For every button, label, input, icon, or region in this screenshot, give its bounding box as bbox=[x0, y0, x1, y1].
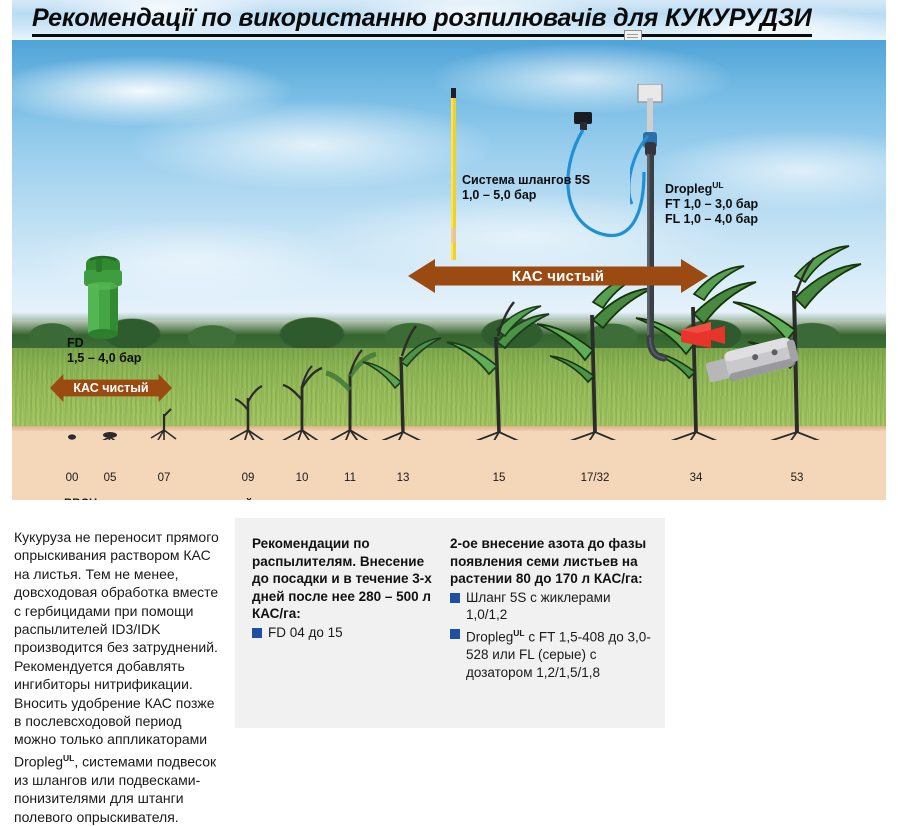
label-hose-system-line2: 1,0 – 5,0 бар bbox=[462, 188, 590, 203]
bbch-stage-1: 05 bbox=[104, 472, 117, 484]
dropleg-superscript: UL bbox=[513, 628, 524, 638]
label-dropleg: DroplegUL FT 1,0 – 3,0 бар FL 1,0 – 4,0 … bbox=[665, 178, 758, 227]
label-dropleg-name: DroplegUL bbox=[665, 178, 758, 197]
list-item: Шланг 5S с жиклерами 1,0/1,2 bbox=[450, 589, 655, 624]
bbch-stage-10: 53 bbox=[791, 472, 804, 484]
dropleg-name: Dropleg bbox=[466, 629, 513, 644]
hose-system-pole-icon bbox=[449, 88, 457, 260]
list-item: DroplegUL с FT 1,5-408 до 3,0-528 или FL… bbox=[450, 625, 655, 681]
presowing-item-label: FD 04 до 15 bbox=[268, 624, 432, 642]
bbch-stage-9: 34 bbox=[690, 472, 703, 484]
cloud bbox=[132, 100, 492, 190]
left-paragraph-superscript: UL bbox=[63, 753, 74, 763]
label-dropleg-superscript: UL bbox=[712, 180, 723, 190]
bbch-stage-8: 17/32 bbox=[581, 472, 610, 484]
bbch-stage-0: 00 bbox=[66, 472, 79, 484]
dropleg-applicator-icon bbox=[630, 84, 670, 362]
left-description-paragraph: Кукуруза не переносит прямого опрыскиван… bbox=[14, 528, 219, 826]
bbch-stage-6: 13 bbox=[397, 472, 410, 484]
bbch-stage-3: 09 bbox=[242, 472, 255, 484]
label-dropleg-ft: FT 1,0 – 3,0 бар bbox=[665, 197, 758, 212]
cloud bbox=[432, 44, 732, 114]
grey-nozzle-icon bbox=[700, 336, 804, 386]
arrow-kas-pure-wide-label: КАС чистый bbox=[512, 268, 604, 285]
second-nitrogen-item-hose: Шланг 5S с жиклерами 1,0/1,2 bbox=[466, 589, 655, 624]
label-fd-pressure: 1,5 – 4,0 бар bbox=[67, 351, 141, 366]
bullet-square-icon bbox=[450, 629, 460, 639]
header-banner: Рекомендації по використанню розпилювачі… bbox=[12, 0, 886, 40]
list-item: FD 04 до 15 bbox=[252, 624, 432, 642]
illustration-scene: Система шлангов 5S 1,0 – 5,0 бар Dropleg… bbox=[12, 40, 886, 500]
recommendation-column-second-nitrogen: 2-ое внесение азота до фазы появления се… bbox=[450, 535, 655, 681]
bbch-stage-2: 07 bbox=[158, 472, 171, 484]
presowing-heading: Рекомендации по распылителям. Внесение д… bbox=[252, 535, 432, 623]
bbch-stage-4: 10 bbox=[296, 472, 309, 484]
label-fd-name: FD bbox=[67, 336, 141, 351]
bullet-square-icon bbox=[252, 628, 262, 638]
poster-page: Рекомендації по використанню розпилювачі… bbox=[0, 0, 898, 822]
recommendation-column-presowing: Рекомендации по распылителям. Внесение д… bbox=[252, 535, 432, 642]
fd-nozzle-icon bbox=[74, 248, 132, 340]
bbch-caption: BBCH стадии развития растений bbox=[64, 498, 252, 500]
label-hose-system-5s: Система шлангов 5S 1,0 – 5,0 бар bbox=[462, 173, 590, 203]
second-nitrogen-item-dropleg: DroplegUL с FT 1,5-408 до 3,0-528 или FL… bbox=[466, 625, 655, 681]
bbch-stage-7: 15 bbox=[493, 472, 506, 484]
page-title: Рекомендації по використанню розпилювачі… bbox=[32, 4, 812, 37]
label-fd-nozzle: FD 1,5 – 4,0 бар bbox=[67, 336, 141, 366]
second-nitrogen-heading: 2-ое внесение азота до фазы появления се… bbox=[450, 535, 655, 588]
paperclip-icon bbox=[624, 30, 642, 40]
label-dropleg-fl: FL 1,0 – 4,0 бар bbox=[665, 212, 758, 227]
bullet-square-icon bbox=[450, 593, 460, 603]
bbch-stage-5: 11 bbox=[344, 472, 356, 484]
arrow-kas-pure-left-label: КАС чистый bbox=[73, 381, 148, 395]
left-paragraph-text: Кукуруза не переносит прямого опрыскиван… bbox=[14, 529, 219, 770]
label-hose-system-line1: Система шлангов 5S bbox=[462, 173, 590, 188]
